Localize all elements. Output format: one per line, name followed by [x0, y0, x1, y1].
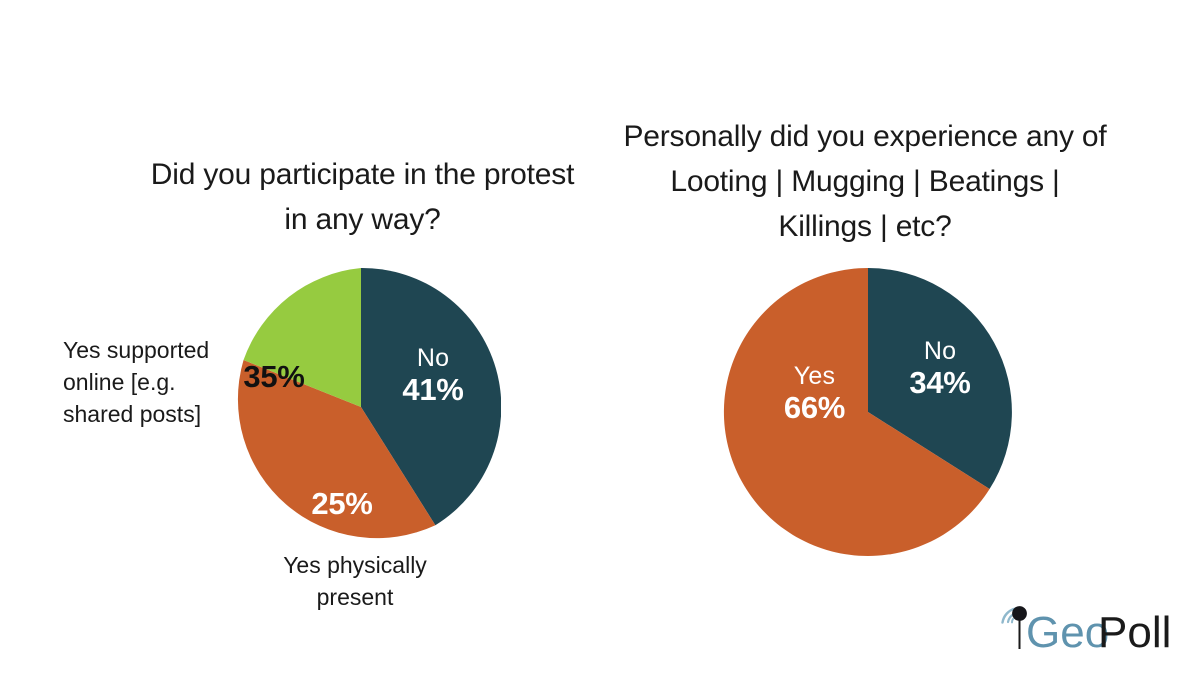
callout-supported-online: Yes supported online [e.g. shared posts] [63, 334, 238, 430]
chart-title-participation: Did you participate in the protest in an… [140, 152, 585, 242]
geopoll-logo-svg: Geo Poll [992, 592, 1182, 654]
antenna-dot-icon [1012, 606, 1027, 621]
pie-chart-experienced-violence [723, 267, 1013, 557]
pie-chart-experienced-violence-svg [723, 267, 1013, 557]
pie-chart-participation-svg [221, 267, 501, 547]
chart-title-experienced-violence: Personally did you experience any of Loo… [620, 114, 1110, 249]
slide-canvas: Did you participate in the protest in an… [0, 0, 1200, 675]
callout-physically-present: Yes physically present [255, 549, 455, 613]
pie-chart-participation [221, 267, 501, 547]
logo-text-geo: Geo [1026, 608, 1109, 654]
geopoll-logo: Geo Poll [992, 592, 1182, 654]
logo-text-poll: Poll [1098, 608, 1171, 654]
